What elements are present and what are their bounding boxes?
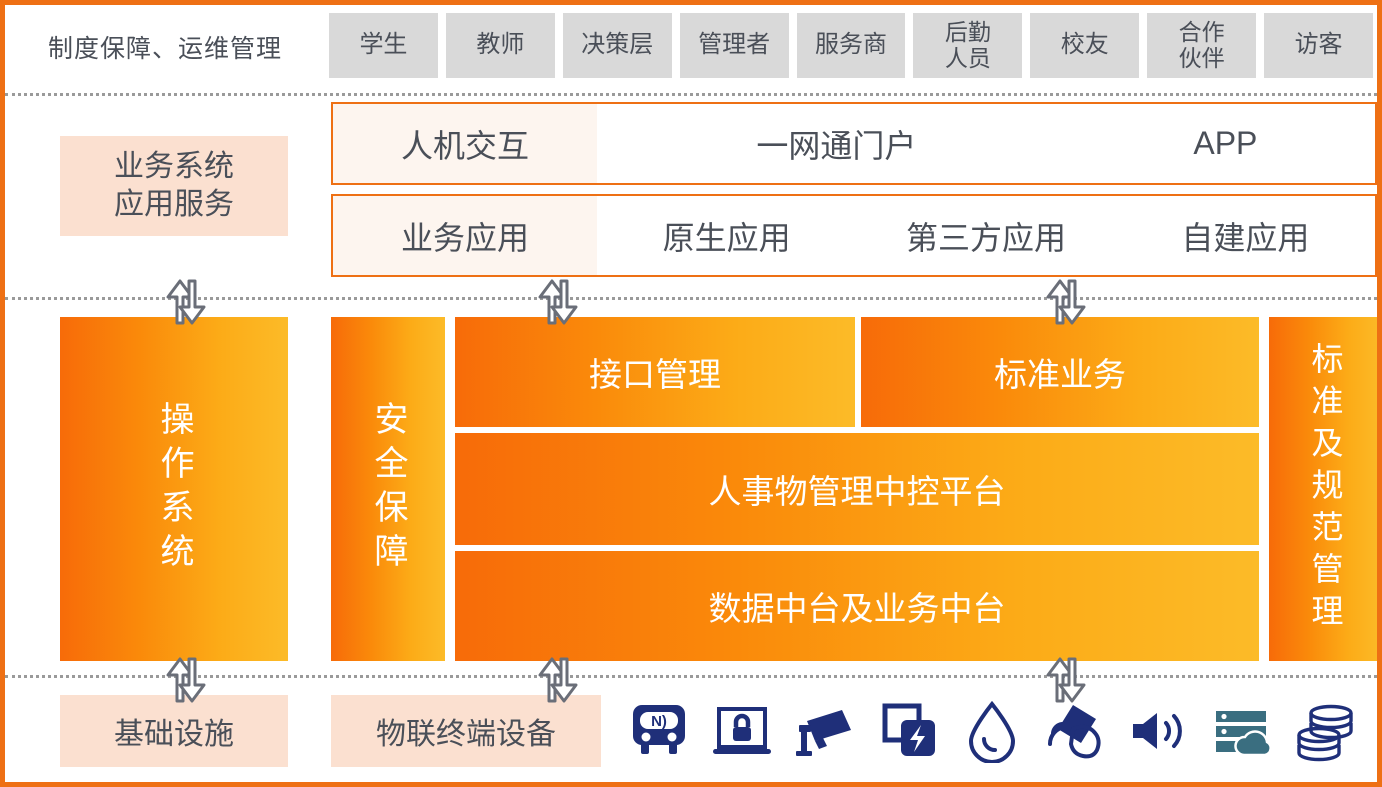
- application-services-label-line2: 应用服务: [114, 186, 234, 224]
- cell-one-net-portal[interactable]: 一网通门户: [597, 104, 1076, 183]
- nfc-card-tap-icon: [1038, 694, 1112, 768]
- stakeholder-alumni[interactable]: 校友: [1030, 13, 1139, 78]
- water-drop-icon: [955, 694, 1029, 768]
- stakeholders-row: 制度保障、运维管理 学生 教师 决策层 管理者 服务商 后勤人员 校友 合作伙伴…: [5, 5, 1377, 88]
- stakeholder-visitor[interactable]: 访客: [1264, 13, 1373, 78]
- coins-stack-icon: [1288, 694, 1362, 768]
- stakeholder-partner[interactable]: 合作伙伴: [1147, 13, 1256, 78]
- stakeholder-service-provider[interactable]: 服务商: [797, 13, 906, 78]
- nfc-bus-icon: N): [622, 694, 696, 768]
- application-services-row: 业务系统 应用服务 人机交互 一网通门户 APP 业务应用 原生应用 第三方应用…: [5, 93, 1377, 298]
- application-services-label: 业务系统 应用服务: [60, 136, 288, 236]
- block-security[interactable]: 安全保障: [331, 317, 445, 661]
- power-battery-icon: [872, 694, 946, 768]
- platform-row: 操作系统 安全保障 接口管理 标准业务 人事物管理中控平台 数据中台及业务中台 …: [5, 303, 1377, 675]
- block-central-platform[interactable]: 人事物管理中控平台: [455, 433, 1259, 545]
- cell-business-application[interactable]: 业务应用: [333, 196, 597, 275]
- architecture-diagram: 制度保障、运维管理 学生 教师 决策层 管理者 服务商 后勤人员 校友 合作伙伴…: [0, 0, 1382, 787]
- stakeholder-administrator[interactable]: 管理者: [680, 13, 789, 78]
- laptop-lock-icon: [705, 694, 779, 768]
- block-operating-system-label: 操作系统: [157, 401, 191, 577]
- application-services-label-line1: 业务系统: [114, 148, 234, 186]
- stakeholder-logistics-staff[interactable]: 后勤人员: [913, 13, 1022, 78]
- separator-applications: [5, 297, 1377, 300]
- block-data-platform-label: 数据中台及业务中台: [709, 582, 1006, 630]
- server-cloud-icon: [1205, 694, 1279, 768]
- cell-third-party-application[interactable]: 第三方应用: [856, 196, 1115, 275]
- block-operating-system[interactable]: 操作系统: [60, 317, 288, 661]
- block-interface-management[interactable]: 接口管理: [455, 317, 855, 427]
- block-interface-management-label: 接口管理: [589, 348, 721, 396]
- iot-devices-label[interactable]: 物联终端设备: [331, 695, 601, 767]
- block-security-label: 安全保障: [371, 401, 405, 577]
- svg-text:N): N): [651, 713, 667, 730]
- stakeholder-student[interactable]: 学生: [329, 13, 438, 78]
- block-central-platform-label: 人事物管理中控平台: [709, 465, 1006, 513]
- cell-human-machine-interaction[interactable]: 人机交互: [333, 104, 597, 183]
- interaction-bar: 人机交互 一网通门户 APP: [331, 102, 1377, 185]
- separator-stakeholders: [5, 93, 1377, 96]
- governance-title: 制度保障、运维管理: [5, 5, 325, 88]
- cell-self-built-application[interactable]: 自建应用: [1116, 196, 1375, 275]
- block-standards-management-label: 标准及规范管理: [1310, 342, 1342, 636]
- infrastructure-row: 基础设施 物联终端设备 N): [5, 680, 1377, 782]
- speaker-icon: [1122, 694, 1196, 768]
- iot-icon-strip: N): [601, 692, 1377, 770]
- separator-platform: [5, 675, 1377, 678]
- block-data-platform[interactable]: 数据中台及业务中台: [455, 551, 1259, 661]
- stakeholder-teacher[interactable]: 教师: [446, 13, 555, 78]
- security-camera-icon: [788, 694, 862, 768]
- block-standards-management[interactable]: 标准及规范管理: [1269, 317, 1382, 661]
- stakeholder-decision-maker[interactable]: 决策层: [563, 13, 672, 78]
- infrastructure-label[interactable]: 基础设施: [60, 695, 288, 767]
- block-standard-business-label: 标准业务: [994, 348, 1126, 396]
- cell-app[interactable]: APP: [1076, 104, 1375, 183]
- block-standard-business[interactable]: 标准业务: [861, 317, 1259, 427]
- cell-native-application[interactable]: 原生应用: [597, 196, 856, 275]
- applications-bar: 业务应用 原生应用 第三方应用 自建应用: [331, 194, 1377, 277]
